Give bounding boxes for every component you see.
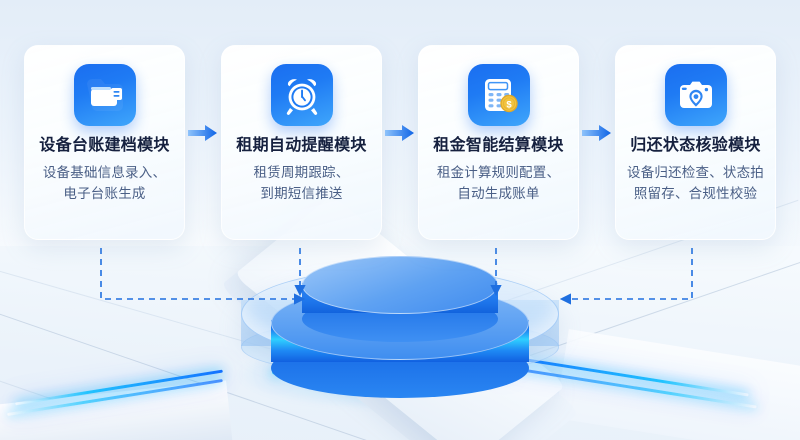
step-card-desc-line: 设备基础信息录入、 (43, 163, 166, 184)
step-card-desc-line: 照留存、合规性校验 (627, 184, 764, 205)
step-card-title: 租期自动提醒模块 (236, 136, 366, 155)
step-card-desc: 租金计算规则配置、 自动生成账单 (431, 163, 566, 205)
step-card-3[interactable]: $ 租金智能结算模块 租金计算规则配置、 自动生成账单 (418, 45, 579, 240)
step-card-2[interactable]: 租期自动提醒模块 租赁周期跟踪、 到期短信推送 (221, 45, 382, 240)
step-card-title: 归还状态核验模块 (630, 136, 760, 155)
alarm-clock-icon (271, 64, 333, 126)
step-card-desc-line: 电子台账生成 (43, 184, 166, 205)
calculator-coin-icon: $ (468, 64, 530, 126)
arrow-step-3-to-4 (582, 123, 612, 143)
step-card-desc: 租赁周期跟踪、 到期短信推送 (248, 163, 356, 205)
step-card-4[interactable]: 归还状态核验模块 设备归还检查、状态拍 照留存、合规性校验 (615, 45, 776, 240)
step-card-desc-line: 租赁周期跟踪、 (254, 163, 350, 184)
step-card-desc-line: 设备归还检查、状态拍 (627, 163, 764, 184)
arrow-gap-3 (579, 45, 615, 240)
arrow-step-2-to-3 (385, 123, 415, 143)
step-card-row: 设备台账建档模块 设备基础信息录入、 电子台账生成 (0, 0, 800, 260)
step-card-1[interactable]: 设备台账建档模块 设备基础信息录入、 电子台账生成 (24, 45, 185, 240)
camera-check-icon (665, 64, 727, 126)
step-card-title: 设备台账建档模块 (39, 136, 169, 155)
arrow-gap-2 (382, 45, 418, 240)
folder-archive-icon (74, 64, 136, 126)
step-card-desc-line: 到期短信推送 (254, 184, 350, 205)
arrow-gap-1 (185, 45, 221, 240)
step-card-desc: 设备归还检查、状态拍 照留存、合规性校验 (621, 163, 770, 205)
step-card-desc: 设备基础信息录入、 电子台账生成 (37, 163, 172, 205)
podium-top-plate (302, 256, 498, 314)
step-card-desc-line: 租金计算规则配置、 (437, 163, 560, 184)
step-card-desc-line: 自动生成账单 (437, 184, 560, 205)
svg-text:$: $ (506, 99, 512, 110)
step-card-title: 租金智能结算模块 (433, 136, 563, 155)
arrow-step-1-to-2 (188, 123, 218, 143)
